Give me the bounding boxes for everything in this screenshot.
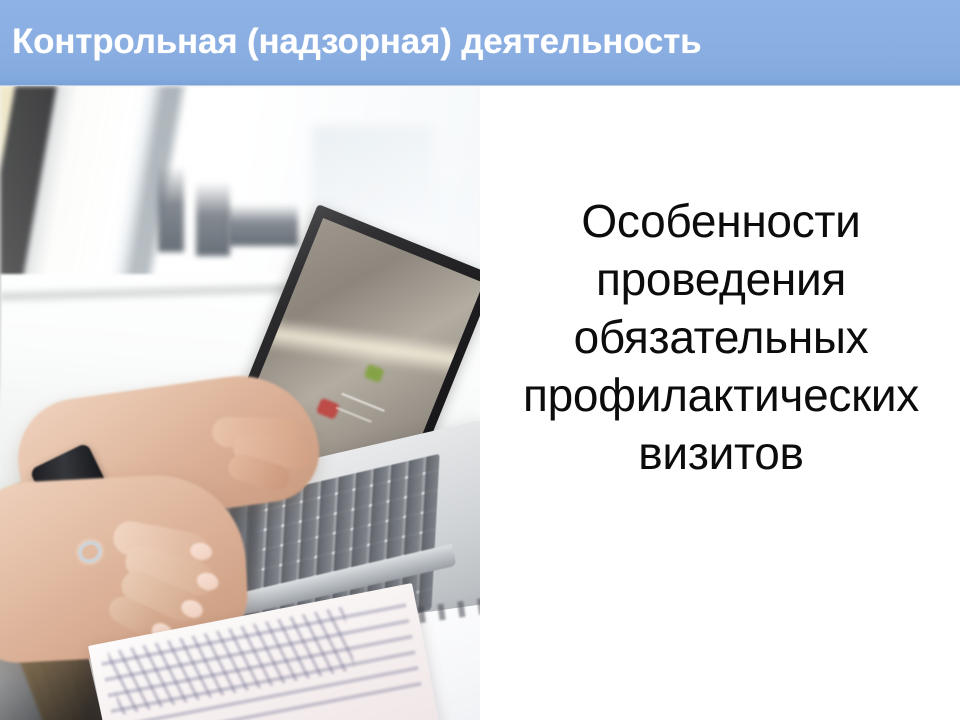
slide-root: Контрольная (надзорная) деятельность	[0, 0, 960, 720]
screen-text-line	[336, 406, 372, 422]
content-panel: Особенности проведения обязательных проф…	[480, 86, 960, 720]
fingernail	[179, 597, 206, 621]
main-title: Особенности проведения обязательных проф…	[484, 192, 958, 482]
photo-panel	[0, 86, 480, 720]
fingernail	[195, 570, 221, 593]
fingernail	[189, 541, 214, 562]
screen-icon-green	[363, 364, 384, 383]
header-title: Контрольная (надзорная) деятельность	[12, 21, 701, 63]
header-banner: Контрольная (надзорная) деятельность	[0, 0, 960, 86]
screen-text-line	[342, 392, 385, 411]
